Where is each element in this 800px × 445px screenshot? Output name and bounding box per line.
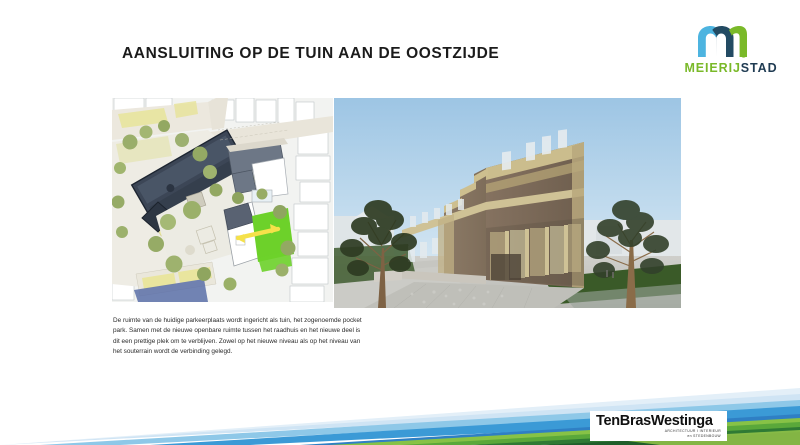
architectural-rendering-image: [334, 98, 681, 308]
page-title: AANSLUITING OP DE TUIN AAN DE OOSTZIJDE: [122, 45, 499, 63]
meierijstad-m-mark: [696, 24, 748, 58]
architect-subtitle-line-2: en STEDENBOUW: [596, 434, 723, 439]
architect-name: TenBrasWestinga: [596, 413, 723, 429]
figure-caption: De ruimte van de huidige parkeerplaats w…: [113, 316, 365, 358]
wordmark-stad: STAD: [741, 61, 778, 75]
wordmark-meierij: MEIERIJ: [684, 61, 740, 75]
presentation-slide: AANSLUITING OP DE TUIN AAN DE OOSTZIJDE …: [0, 0, 800, 445]
site-plan-image: [112, 98, 333, 302]
meierijstad-wordmark: MEIERIJSTAD: [678, 61, 784, 75]
meierijstad-logo: MEIERIJSTAD: [676, 24, 786, 84]
architect-logo: TenBrasWestinga ARCHITECTUUR I INTERIEUR…: [590, 411, 727, 441]
